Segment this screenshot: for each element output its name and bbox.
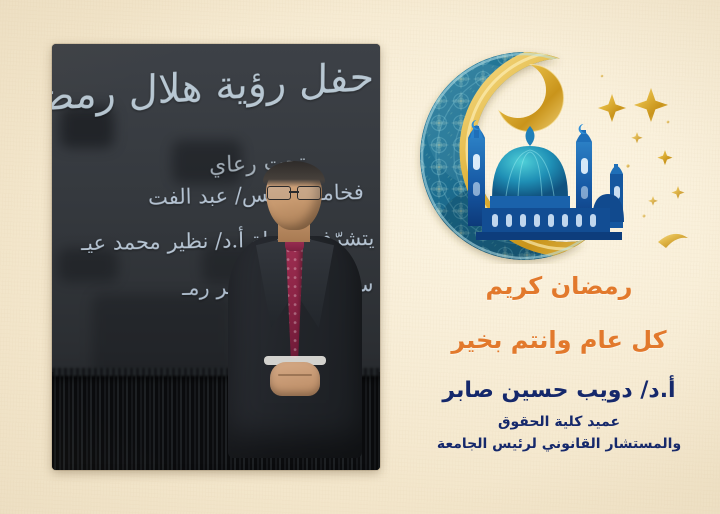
clasped-hands: [270, 362, 320, 396]
ramadan-greeting-poster: حفل رؤية هلال رمضا تحت رعاي فخامة الرئيس…: [0, 0, 720, 514]
hair: [263, 161, 325, 187]
signature-role-secondary: والمستشار القانوني لرئيس الجامعة: [398, 436, 720, 452]
banner-line-1: حفل رؤية هلال رمضا: [52, 54, 374, 121]
signature-name: أ.د/ دويب حسين صابر: [398, 378, 720, 403]
event-photo: حفل رؤية هلال رمضا تحت رعاي فخامة الرئيس…: [52, 44, 380, 470]
greeting-secondary: كل عام وانتم بخير: [398, 326, 720, 354]
photo-subject-person: [220, 164, 370, 464]
photo-content: حفل رؤية هلال رمضا تحت رعاي فخامة الرئيس…: [52, 44, 380, 470]
crescent-mosque-icon: [406, 46, 706, 264]
message-column: رمضان كريم كل عام وانتم بخير أ.د/ دويب ح…: [398, 0, 720, 514]
signature-role-primary: عميد كلية الحقوق: [398, 414, 720, 430]
eyeglasses-icon: [267, 186, 321, 199]
greeting-primary: رمضان كريم: [398, 272, 720, 300]
